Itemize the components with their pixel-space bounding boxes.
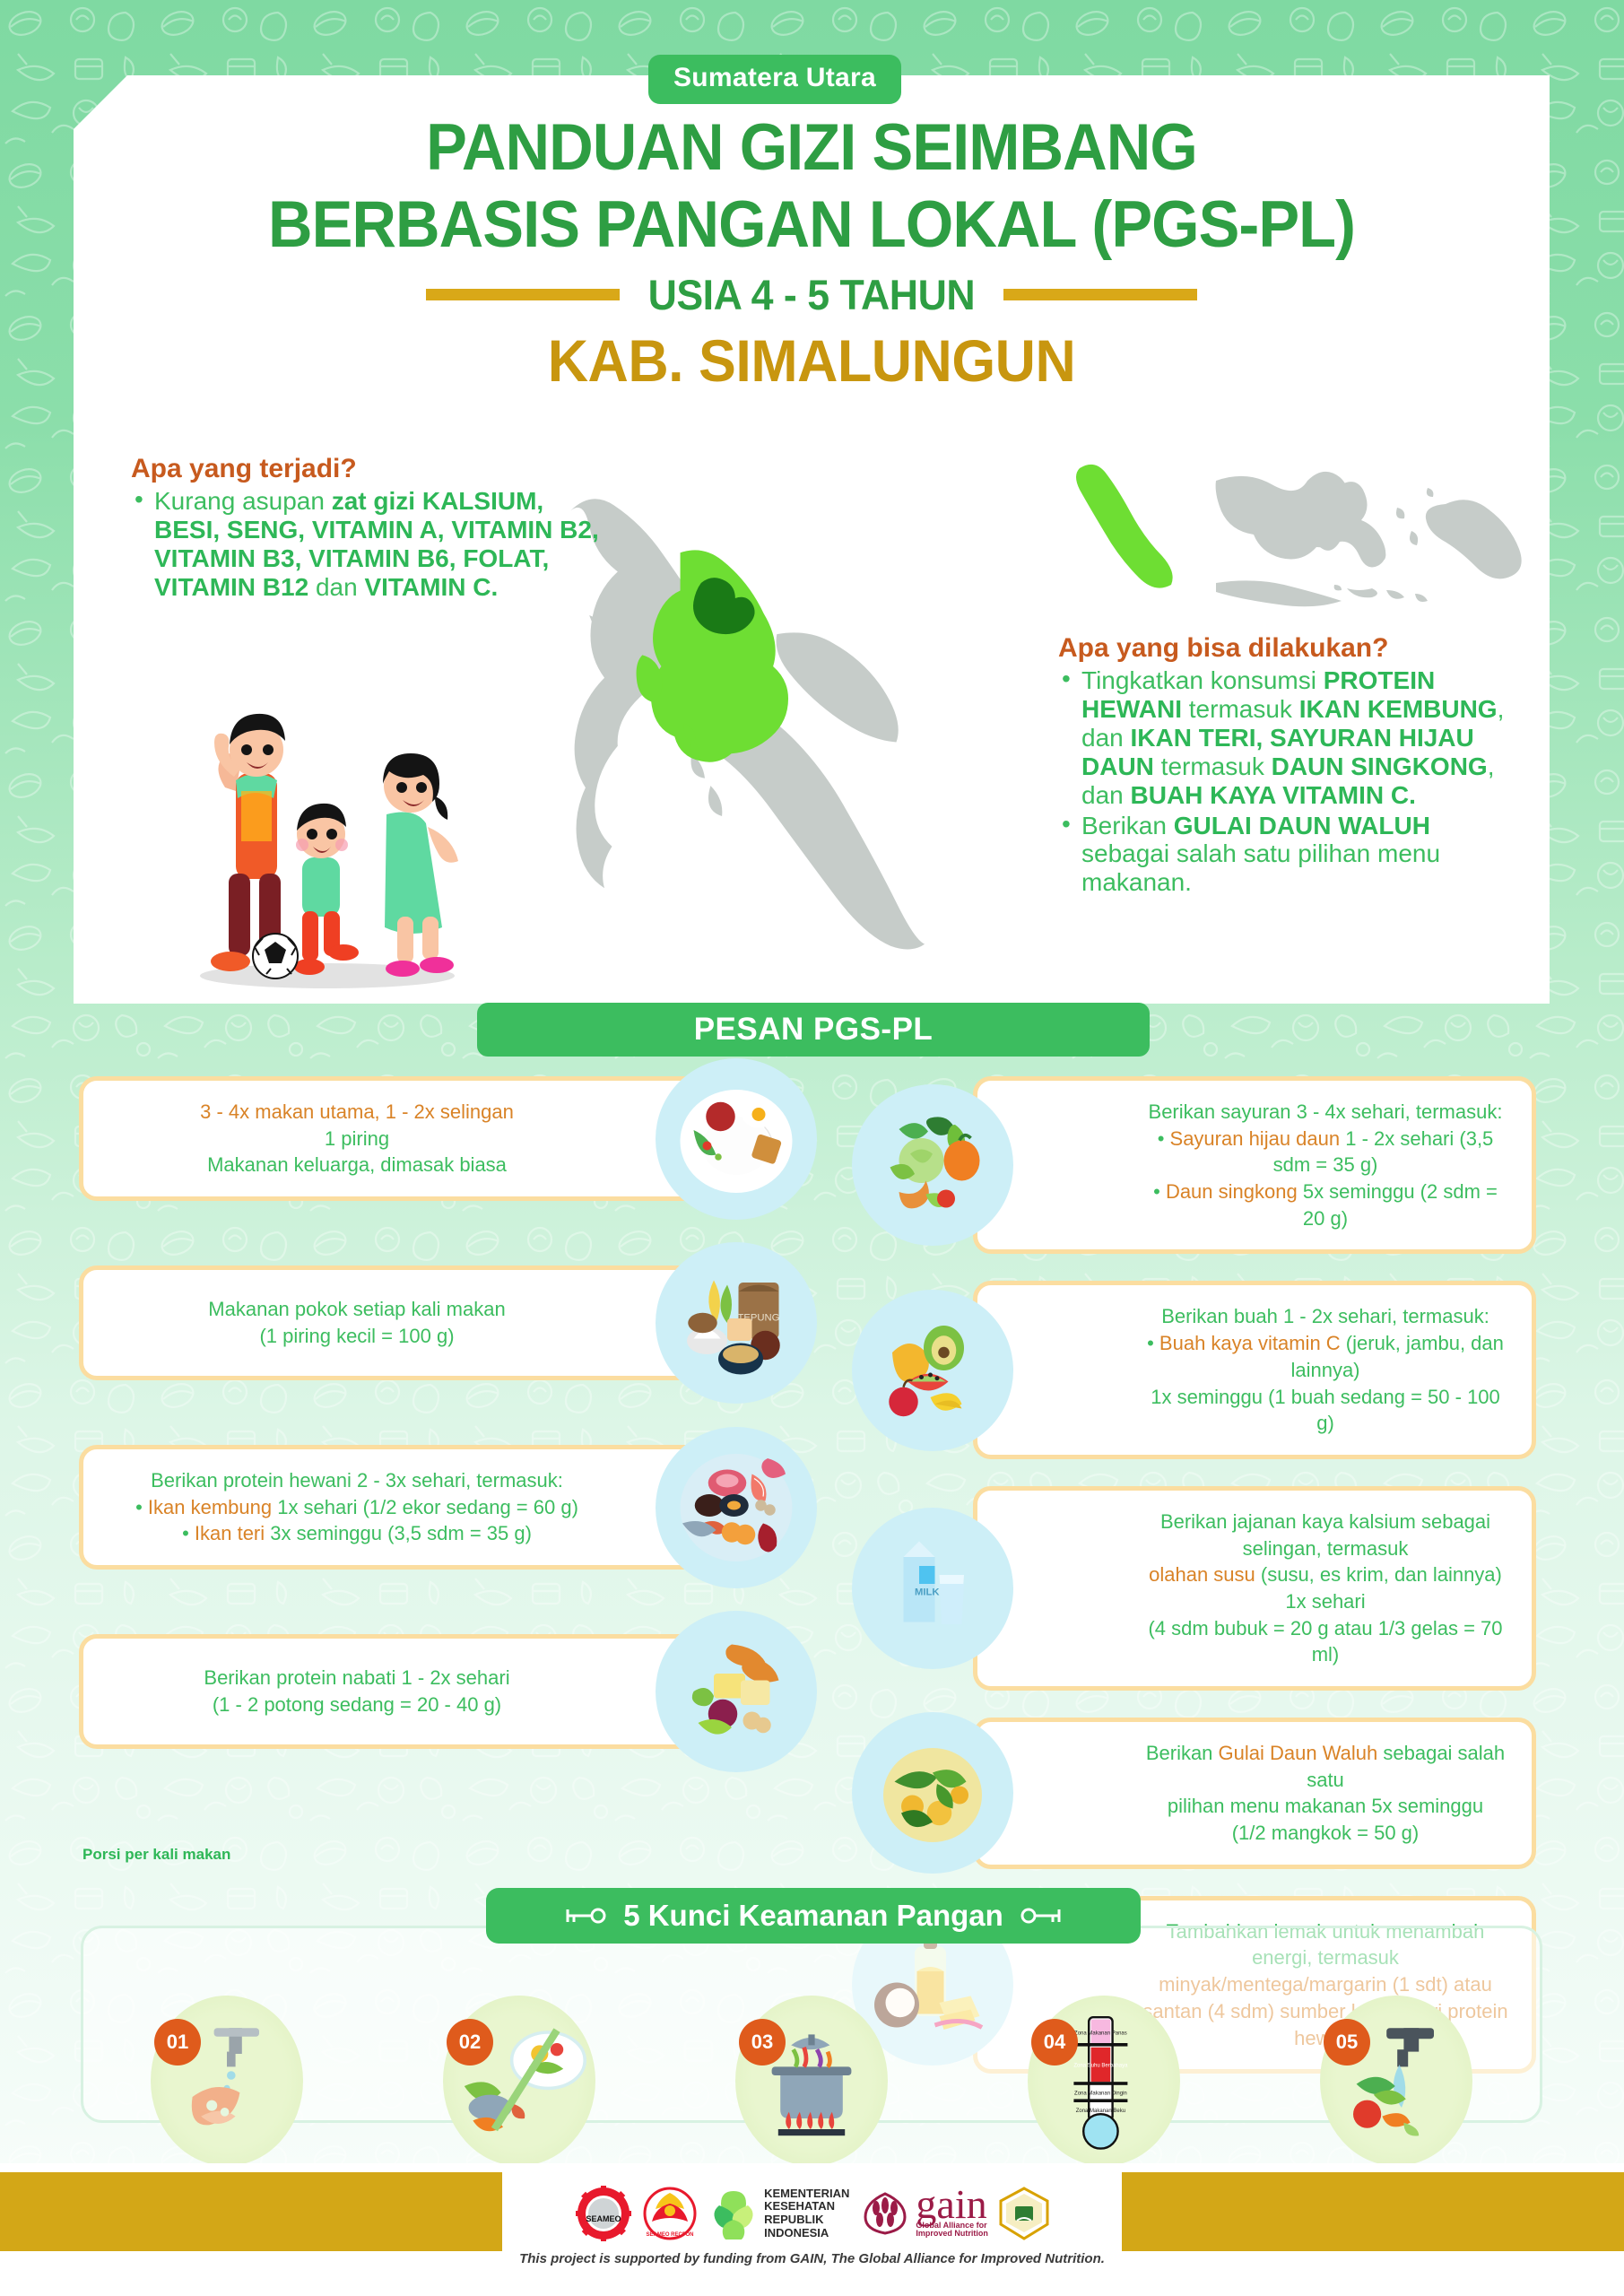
svg-text:Zona Makanan Beku: Zona Makanan Beku [1076,2109,1125,2114]
list-item: Kurang asupan zat gizi KALSIUM, BESI, SE… [131,487,615,602]
food-safety-step-number: 03 [739,2019,786,2066]
food-safety-step-number: 01 [154,2019,201,2066]
cooking-pot-icon: 03 [735,1996,888,2166]
rice-plate-icon [656,1058,817,1220]
message-card: Berikan protein nabati 1 - 2x sehari(1 -… [79,1634,787,1749]
lesser-sunda-islands [1347,588,1428,602]
what-to-do-heading: Apa yang bisa dilakukan? [1058,633,1507,664]
sumatra-east-grey [777,632,899,742]
message-card-text: Berikan protein nabati 1 - 2x sehari(1 -… [92,1647,621,1735]
message-card: Berikan Gulai Daun Waluh sebagai salah s… [973,1718,1536,1869]
infographic-poster: Sumatera Utara PANDUAN GIZI SEIMBANG BER… [0,0,1624,2296]
message-card-text: Makanan pokok setiap kali makan(1 piring… [92,1278,621,1367]
age-range-label: USIA 4 - 5 TAHUN [648,270,976,319]
key-right-icon [1018,1905,1064,1926]
svg-text:Zona Suhu Berbahaya: Zona Suhu Berbahaya [1073,2063,1128,2068]
svg-text:MILK: MILK [915,1587,940,1597]
left-card-column: 3 - 4x makan utama, 1 - 2x selingan1 pir… [79,1076,787,1813]
rule-left [426,289,620,300]
what-happens-heading: Apa yang terjadi? [131,454,615,484]
java-island [1216,580,1342,606]
gain-wordmark: gain [916,2188,988,2222]
sumatra-highlight-indonesia [1076,465,1173,588]
footer-logos: SEAMEO SEAMEO RECFON [490,2178,1135,2249]
list-item: Tingkatkan konsumsi PROTEIN HEWANI terma… [1058,666,1507,810]
indonesia-map [1040,448,1542,655]
footer-gold-band-right [1122,2172,1624,2251]
food-safety-banner: 5 Kunci Keamanan Pangan [486,1888,1141,1944]
father-figure [211,714,293,971]
kemenkes-label: KEMENTERIANKESEHATANREPUBLIKINDONESIA [764,2187,849,2239]
plant-protein-icon [656,1611,817,1772]
food-safety-step-number: 02 [447,2019,493,2066]
thermometer-icon: 04 Zona Makanan Panas Zona Suhu Berbahay… [1028,1996,1180,2166]
page-title-line2: BERBASIS PANGAN LOKAL (PGS-PL) [117,192,1505,257]
gain-logo: gain Global Alliance forImproved Nutriti… [860,2188,988,2239]
clean-water-icon: 05 [1320,1996,1472,2166]
district-label: KAB. SIMALUNGUN [110,326,1513,395]
staple-food-icon: TEPUNG [656,1242,817,1404]
portion-note: Porsi per kali makan [83,1846,230,1864]
message-card: Makanan pokok setiap kali makan(1 piring… [79,1265,787,1380]
message-card-text: Berikan protein hewani 2 - 3x sehari, te… [92,1449,621,1565]
svg-text:Zona Makanan Panas: Zona Makanan Panas [1074,2031,1127,2036]
food-safety-step-number: 04 [1031,2019,1078,2066]
kemenkes-logo: KEMENTERIANKESEHATANREPUBLIKINDONESIA [708,2187,849,2239]
message-card-text: Berikan Gulai Daun Waluh sebagai salah s… [1130,1722,1521,1865]
message-card-text: Berikan jajanan kaya kalsium sebagai sel… [1130,1491,1521,1686]
list-item: Berikan GULAI DAUN WALUH sebagai salah s… [1058,812,1507,898]
message-card: 3 - 4x makan utama, 1 - 2x selingan1 pir… [79,1076,787,1201]
food-safety-banner-label: 5 Kunci Keamanan Pangan [623,1899,1003,1933]
province-badge: Sumatera Utara [648,55,901,104]
bali-island [1334,585,1342,590]
vegetables-icon [852,1084,1013,1246]
age-subline: USIA 4 - 5 TAHUN [74,270,1550,319]
handwash-icon: 01 [151,1996,303,2166]
football-icon [253,934,298,978]
family-illustration [139,691,516,996]
what-happens-block: Apa yang terjadi? Kurang asupan zat gizi… [131,454,615,604]
message-card: Berikan sayuran 3 - 4x sehari, termasuk:… [973,1076,1536,1254]
message-card-text: 3 - 4x makan utama, 1 - 2x selingan1 pir… [92,1081,621,1196]
seameo-logo: SEAMEO [576,2186,631,2241]
funding-note: This project is supported by funding fro… [0,2251,1624,2266]
title-block: PANDUAN GIZI SEIMBANG BERBASIS PANGAN LO… [74,115,1550,395]
boy-figure [294,804,359,975]
university-logo [999,2187,1049,2240]
what-to-do-list: Tingkatkan konsumsi PROTEIN HEWANI terma… [1058,666,1507,897]
svg-text:SEAMEO: SEAMEO [586,2214,621,2223]
message-card: Berikan buah 1 - 2x sehari, termasuk:• B… [973,1281,1536,1458]
pesan-pgs-pl-banner: PESAN PGS-PL [477,1003,1150,1057]
maluku-islands [1379,488,1434,560]
seameo-recfon-logo: SEAMEO RECFON [642,2186,698,2241]
message-card: MILK Berikan jajanan kaya kalsium sebaga… [973,1486,1536,1691]
milk-icon: MILK [852,1508,1013,1669]
message-card-text: Berikan buah 1 - 2x sehari, termasuk:• B… [1130,1285,1521,1454]
rule-right [1003,289,1197,300]
mother-figure [383,753,458,977]
svg-text:SEAMEO RECFON: SEAMEO RECFON [647,2232,694,2238]
message-card-text: Berikan sayuran 3 - 4x sehari, termasuk:… [1130,1081,1521,1249]
what-to-do-block: Apa yang bisa dilakukan? Tingkatkan kons… [1058,633,1507,899]
page-title-line1: PANDUAN GIZI SEIMBANG [117,115,1505,180]
food-safety-step-number: 05 [1324,2019,1370,2066]
papua-island [1426,500,1522,578]
key-left-icon [562,1905,609,1926]
separate-raw-cooked-icon: 02 [443,1996,595,2166]
gulai-daun-waluh-icon [852,1712,1013,1874]
fruits-icon [852,1290,1013,1451]
sulawesi-island [1313,482,1385,567]
gain-tagline: Global Alliance forImproved Nutrition [916,2222,988,2239]
message-card: Berikan protein hewani 2 - 3x sehari, te… [79,1445,787,1570]
animal-protein-icon [656,1427,817,1588]
what-happens-list: Kurang asupan zat gizi KALSIUM, BESI, SE… [131,487,615,602]
footer-gold-band-left [0,2172,502,2251]
svg-text:Zona Makanan Dingin: Zona Makanan Dingin [1074,2092,1127,2097]
